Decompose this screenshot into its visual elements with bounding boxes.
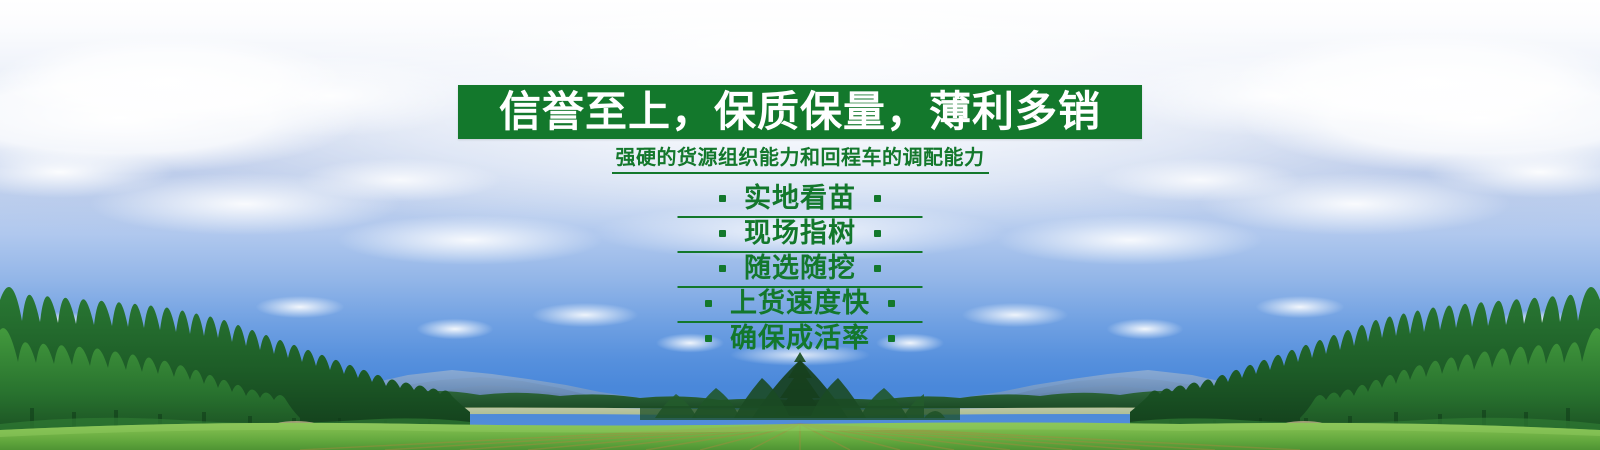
- feature-item: 上货速度快: [0, 286, 1600, 321]
- feature-label: 确保成活率: [730, 325, 870, 352]
- bullet-dot-icon: [888, 300, 895, 307]
- feature-item: 确保成活率: [0, 321, 1600, 356]
- bullet-dot-icon: [719, 230, 726, 237]
- feature-label: 现场指树: [744, 220, 856, 247]
- bullet-dot-icon: [874, 265, 881, 272]
- bullet-dot-icon: [874, 195, 881, 202]
- banner-content: 信誉至上，保质保量，薄利多销 强硬的货源组织能力和回程车的调配能力 实地看苗 现…: [0, 0, 1600, 450]
- bullet-dot-icon: [874, 230, 881, 237]
- bullet-dot-icon: [719, 265, 726, 272]
- feature-list: 实地看苗 现场指树 随选随挖 上货速度快 确保成活率: [0, 181, 1600, 356]
- feature-item: 随选随挖: [0, 251, 1600, 286]
- subheadline-text: 强硬的货源组织能力和回程车的调配能力: [612, 146, 989, 174]
- feature-label: 随选随挖: [744, 255, 856, 282]
- promo-banner: 信誉至上，保质保量，薄利多销 强硬的货源组织能力和回程车的调配能力 实地看苗 现…: [0, 0, 1600, 450]
- headline-text: 信誉至上，保质保量，薄利多销: [499, 91, 1101, 133]
- bullet-dot-icon: [888, 335, 895, 342]
- headline-banner: 信誉至上，保质保量，薄利多销: [458, 85, 1142, 139]
- feature-label: 上货速度快: [730, 290, 870, 317]
- bullet-dot-icon: [719, 195, 726, 202]
- feature-item: 实地看苗: [0, 181, 1600, 216]
- feature-label: 实地看苗: [744, 185, 856, 212]
- bullet-dot-icon: [705, 335, 712, 342]
- feature-item: 现场指树: [0, 216, 1600, 251]
- subheadline: 强硬的货源组织能力和回程车的调配能力: [0, 146, 1600, 174]
- bullet-dot-icon: [705, 300, 712, 307]
